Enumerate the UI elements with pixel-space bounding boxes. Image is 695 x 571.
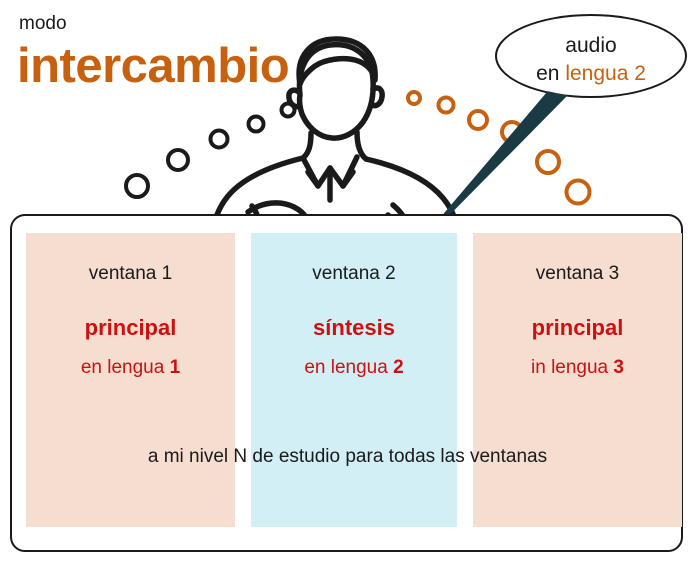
window-column-3-title: ventana 3 (473, 263, 682, 285)
window-column-1-language-number: 1 (170, 357, 181, 378)
window-column-2-role: síntesis (251, 315, 457, 341)
speech-bubble-text: audio en lengua 2 (495, 32, 687, 87)
speech-bubble-line-2: en lengua 2 (495, 60, 687, 88)
window-column-2-language-prefix: en lengua (304, 357, 393, 378)
window-column-1-title: ventana 1 (26, 263, 235, 285)
window-column-3[interactable]: ventana 3 principal in lengua 3 (473, 233, 682, 527)
page-title: intercambio (17, 42, 289, 91)
speech-bubble-line-2-highlight: lengua 2 (565, 62, 646, 85)
speech-bubble: audio en lengua 2 (495, 14, 687, 98)
window-column-3-language-prefix: in lengua (531, 357, 613, 378)
window-column-2-language-number: 2 (393, 357, 404, 378)
window-column-1-role: principal (26, 315, 235, 341)
window-column-3-role: principal (473, 315, 682, 341)
panel-footer-note: a mi nivel N de estudio para todas las v… (0, 446, 695, 468)
sound-bubbles-right-icon (408, 92, 590, 204)
sound-bubbles-left-icon (126, 104, 295, 198)
window-column-2-language: en lengua 2 (251, 357, 457, 379)
window-column-3-language: in lengua 3 (473, 357, 682, 379)
window-column-3-language-number: 3 (613, 357, 624, 378)
window-column-1[interactable]: ventana 1 principal en lengua 1 (26, 233, 235, 527)
window-column-2[interactable]: ventana 2 síntesis en lengua 2 (251, 233, 457, 527)
window-column-1-language-prefix: en lengua (81, 357, 170, 378)
windows-panel: ventana 1 principal en lengua 1 ventana … (10, 214, 683, 552)
mode-eyebrow-label: modo (19, 14, 67, 33)
window-column-2-title: ventana 2 (251, 263, 457, 285)
speech-bubble-line-2-prefix: en (536, 62, 565, 85)
speech-bubble-line-1: audio (495, 32, 687, 60)
window-column-1-language: en lengua 1 (26, 357, 235, 379)
